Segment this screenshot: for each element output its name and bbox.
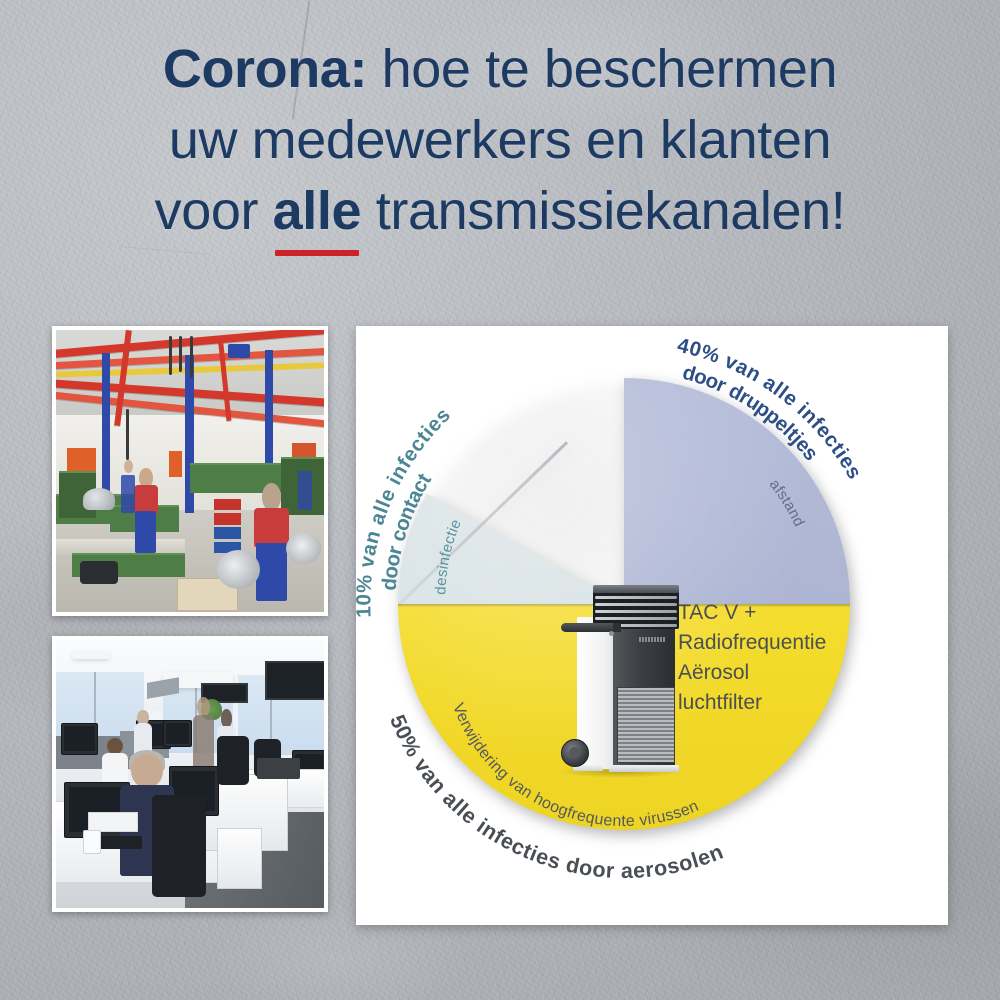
air-purifier-icon <box>551 579 687 779</box>
paper-stack <box>88 812 138 833</box>
pie-chart: 40% van alle infecties door druppeltjes … <box>356 326 948 925</box>
device-filter-grille <box>617 687 675 763</box>
product-label-line-4: luchtfilter <box>678 688 868 718</box>
device-foot-right <box>609 765 679 772</box>
headline-line-1-rest: hoe te beschermen <box>367 39 837 99</box>
worker-3-head <box>124 460 133 473</box>
person-head <box>221 709 232 727</box>
worker-1 <box>134 485 158 553</box>
headline-line-1: Corona: hoe te beschermen <box>0 34 1000 105</box>
monitor-screen <box>64 726 95 751</box>
worker-2-overalls <box>256 543 287 601</box>
metal-part-2 <box>83 488 115 511</box>
cable-3 <box>190 336 193 378</box>
crane-motor <box>228 344 250 358</box>
product-label: TAC V + Radiofrequentie Aërosol luchtfil… <box>678 598 868 718</box>
cable-1 <box>169 336 172 375</box>
coffee-cup <box>83 830 101 853</box>
product-label-line-3: Aërosol <box>678 658 868 688</box>
parts-bin-blue-1 <box>214 527 241 538</box>
headline-line-3: voor alle transmissiekanalen! <box>0 176 1000 247</box>
worker-3 <box>120 471 136 513</box>
person-standing-2 <box>193 715 214 769</box>
background-monitor-3 <box>163 720 192 746</box>
keyboard <box>99 836 142 849</box>
device-power-button[interactable] <box>609 631 614 636</box>
device-logo <box>639 637 665 642</box>
device-handle-mount <box>613 623 621 632</box>
ceiling-lamp-2 <box>72 651 110 659</box>
person-head <box>107 738 123 754</box>
desk-tray <box>257 758 300 779</box>
factory-scene <box>56 330 324 612</box>
headline-corona-word: Corona: <box>163 39 367 99</box>
orange-door-2 <box>169 451 182 476</box>
worker-2 <box>254 508 289 601</box>
factory-photo <box>52 326 328 616</box>
metal-part-1 <box>217 550 260 589</box>
worker-4-overalls <box>298 471 312 510</box>
office-chair-foreground <box>152 795 206 897</box>
cable-2 <box>179 336 182 373</box>
label-afstand: afstand <box>766 476 808 529</box>
hanging-hose <box>126 409 129 460</box>
product-label-line-1: TAC V + <box>678 598 868 628</box>
label-desinfectie: desinfectie <box>432 517 464 595</box>
office-chair-mid <box>217 736 249 784</box>
headline-line-3-post: transmissiekanalen! <box>361 181 845 241</box>
worker-2-shirt <box>254 508 289 547</box>
headline-line-2: uw medewerkers en klanten <box>0 105 1000 176</box>
pedestal-drawer <box>217 828 262 889</box>
device-top-cap <box>593 585 679 593</box>
wall-screen-right <box>265 661 328 700</box>
page-title: Corona: hoe te beschermen uw medewerkers… <box>0 34 1000 247</box>
monitor-screen <box>166 723 190 743</box>
person-body <box>193 715 214 769</box>
headline-emphasis-alle: alle <box>273 176 361 247</box>
worker-1-overalls <box>135 511 156 553</box>
background-monitor-1 <box>61 723 98 754</box>
office-scene <box>56 640 324 908</box>
worker-4 <box>297 471 313 510</box>
parts-bin-red-2 <box>214 513 241 524</box>
worker-1-shirt <box>134 485 158 513</box>
device-wheel <box>561 739 589 767</box>
tool-bag <box>80 561 118 584</box>
worker-3-overalls <box>121 475 135 513</box>
office-photo <box>52 636 328 912</box>
chart-card: 40% van alle infecties door druppeltjes … <box>356 326 948 925</box>
headline-line-3-pre: voor <box>155 181 273 241</box>
parts-bin-red-1 <box>214 499 241 510</box>
device-top-vents <box>593 593 679 627</box>
product-label-line-2: Radiofrequentie <box>678 628 868 658</box>
